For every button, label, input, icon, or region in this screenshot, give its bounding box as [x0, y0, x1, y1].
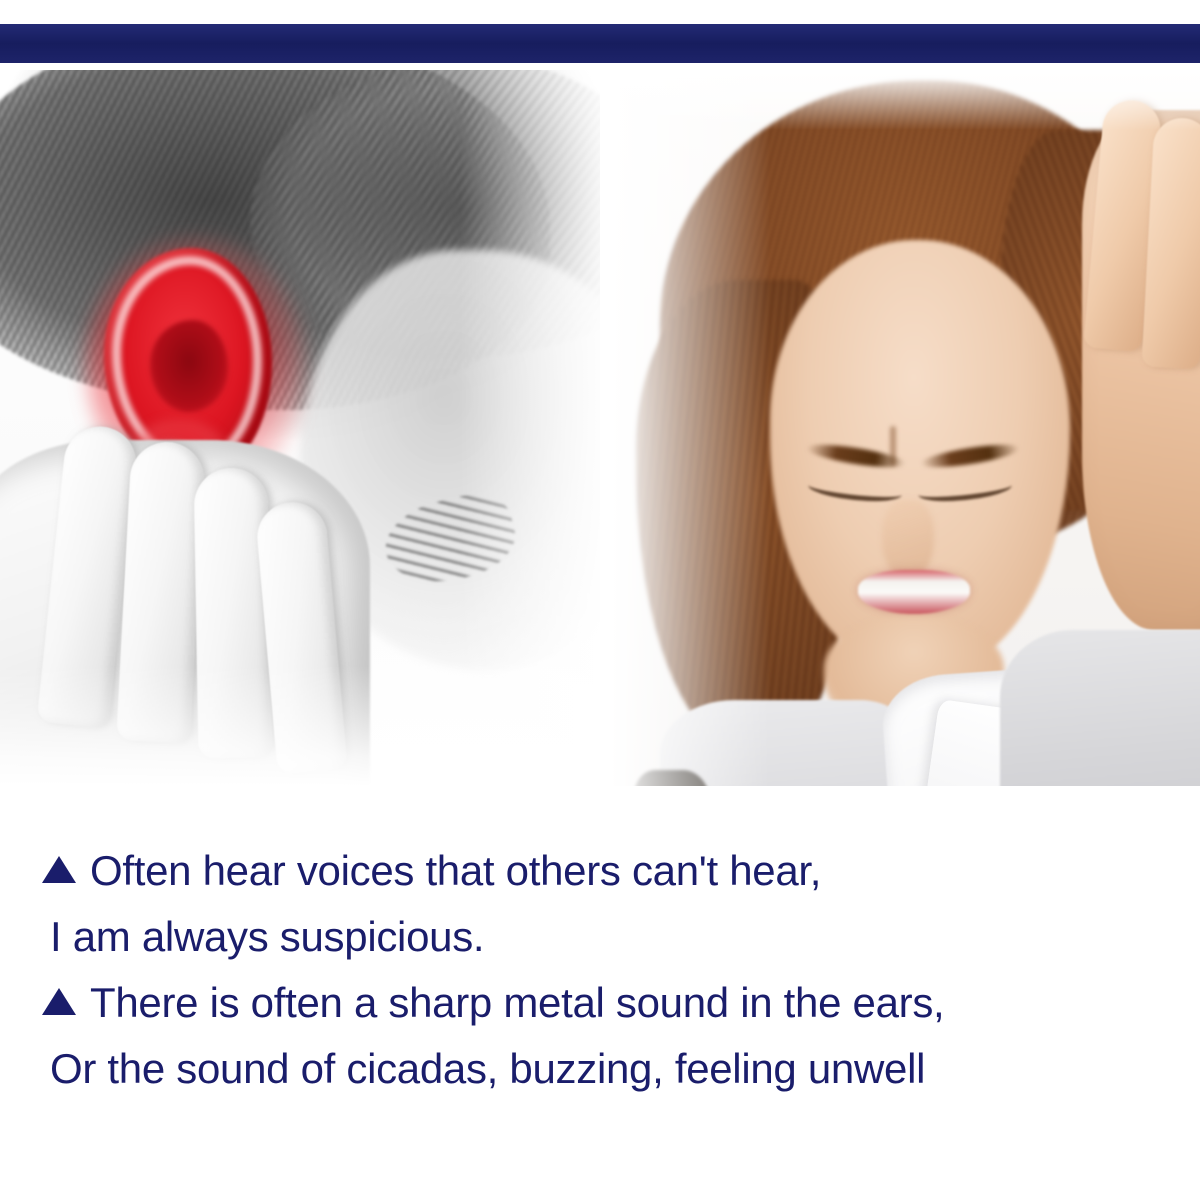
right-photo-left-fade: [600, 70, 770, 786]
symptom-line-3-text: There is often a sharp metal sound in th…: [90, 970, 944, 1036]
woman-nose: [882, 500, 934, 580]
navy-divider-bar: [0, 24, 1200, 63]
woman-gray-sweater: [1000, 630, 1200, 786]
photo-band: [0, 70, 1200, 786]
right-photo-top-fade: [600, 70, 1200, 130]
triangle-up-icon: [42, 988, 76, 1015]
woman-mouth: [858, 570, 970, 614]
symptom-line-3: There is often a sharp metal sound in th…: [42, 970, 1200, 1036]
symptom-line-4-text: Or the sound of cicadas, buzzing, feelin…: [50, 1036, 925, 1102]
symptom-line-1-text: Often hear voices that others can't hear…: [90, 838, 821, 904]
photo-man-ear-pain: [0, 70, 660, 786]
ear-canal: [150, 320, 228, 412]
symptom-line-4: Or the sound of cicadas, buzzing, feelin…: [42, 1036, 1200, 1102]
photo-woman-covering-ears: [600, 70, 1200, 786]
infographic-page: Often hear voices that others can't hear…: [0, 0, 1200, 1200]
symptom-line-1: Often hear voices that others can't hear…: [42, 838, 1200, 904]
symptom-text-block: Often hear voices that others can't hear…: [0, 786, 1200, 1200]
triangle-up-icon: [42, 856, 76, 883]
top-band-container: [0, 0, 1200, 70]
symptom-line-2: I am always suspicious.: [42, 904, 1200, 970]
symptom-line-2-text: I am always suspicious.: [50, 904, 484, 970]
left-photo-bottom-fade: [0, 666, 660, 786]
